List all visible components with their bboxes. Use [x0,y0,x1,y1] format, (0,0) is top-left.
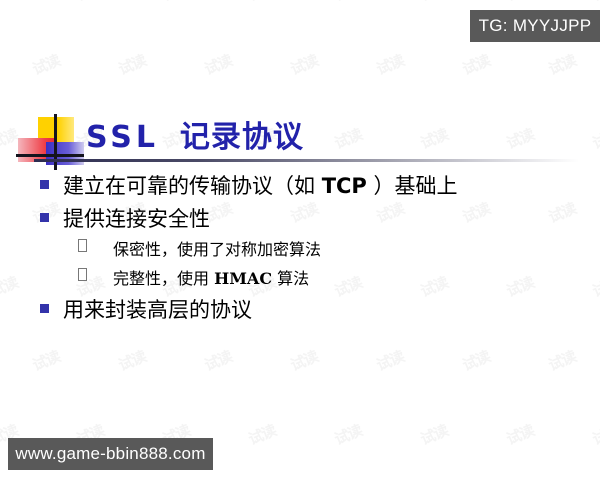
watermark-text: 试读 [245,420,279,450]
bullet-text-part: 用来封装高层的协议 [63,298,252,322]
watermark-text: 试读 [201,50,235,80]
watermark-text: 试读 [115,50,149,80]
watermark-text: 试读 [503,0,537,5]
page-title: SSL 记录协议 [86,112,304,156]
bullet-text-part: 保密性，使用了对称加密算法 [113,240,321,259]
bullet-item: 建立在可靠的传输协议（如 TCP ）基础上 [40,176,600,207]
bullet-square-icon [40,304,49,313]
bullet-text: 提供连接安全性 [63,209,210,230]
bullet-item: 提供连接安全性 [40,209,600,240]
watermark-text: 试读 [589,0,600,5]
bullet-text-part: 完整性，使用 [113,269,214,288]
page-title-latin: SSL [86,120,159,155]
bullet-emphasis-text: HMAC [214,269,272,288]
watermark-text: 试读 [29,346,63,376]
watermark-text: 试读 [331,0,365,5]
watermark-text: 试读 [373,50,407,80]
site-url-label: www.game-bbin888.com [15,444,205,464]
logo-horizontal-crosshair [16,154,84,157]
bullet-square-icon [40,180,49,189]
watermark-text: 试读 [545,50,579,80]
bullet-text-part: 算法 [272,269,309,288]
bullet-list: 建立在可靠的传输协议（如 TCP ）基础上提供连接安全性保密性，使用了对称加密算… [0,176,600,333]
watermark-text: 试读 [287,50,321,80]
title-divider-rule [34,159,579,162]
watermark-text: 试读 [459,50,493,80]
bullet-text: 用来封装高层的协议 [63,300,252,321]
watermark-text: 试读 [29,50,63,80]
sub-bullet-box-icon [78,268,87,281]
watermark-text: 试读 [373,346,407,376]
watermark-text: 试读 [73,0,107,5]
bullet-text-part: ）基础上 [367,174,458,198]
watermark-text: 试读 [503,420,537,450]
watermark-text: 试读 [287,346,321,376]
watermark-text: 试读 [115,346,149,376]
bullet-text-part: 提供连接安全性 [63,207,210,231]
watermark-text: 试读 [331,420,365,450]
page-title-cjk: 记录协议 [180,120,304,155]
sub-bullet-item: 保密性，使用了对称加密算法 [78,242,600,268]
sub-bullet-item: 完整性，使用 HMAC 算法 [78,271,600,297]
sub-bullet-box-icon [78,239,87,252]
bullet-text: 保密性，使用了对称加密算法 [113,242,321,258]
watermark-text: 试读 [589,420,600,450]
bullet-emphasis-text: TCP [322,174,367,198]
slide-title-block: SSL 记录协议 [0,112,600,174]
bullet-text: 完整性，使用 HMAC 算法 [113,271,309,287]
watermark-text: 试读 [201,346,235,376]
watermark-text: 试读 [545,346,579,376]
bullet-text: 建立在可靠的传输协议（如 TCP ）基础上 [63,176,458,197]
slide-canvas: 试读试读试读试读试读试读试读试读试读试读试读试读试读试读试读试读试读试读试读试读… [0,0,600,480]
watermark-text: 试读 [417,420,451,450]
telegram-handle-label: TG: MYYJJPP [479,16,592,36]
telegram-handle-badge: TG: MYYJJPP [470,10,600,42]
bullet-square-icon [40,213,49,222]
watermark-text: 试读 [0,0,21,5]
watermark-text: 试读 [417,0,451,5]
site-url-badge: www.game-bbin888.com [8,438,213,470]
watermark-text: 试读 [159,0,193,5]
watermark-text: 试读 [459,346,493,376]
watermark-text: 试读 [245,0,279,5]
bullet-text-part: 建立在可靠的传输协议（如 [63,174,322,198]
bullet-item: 用来封装高层的协议 [40,300,600,331]
